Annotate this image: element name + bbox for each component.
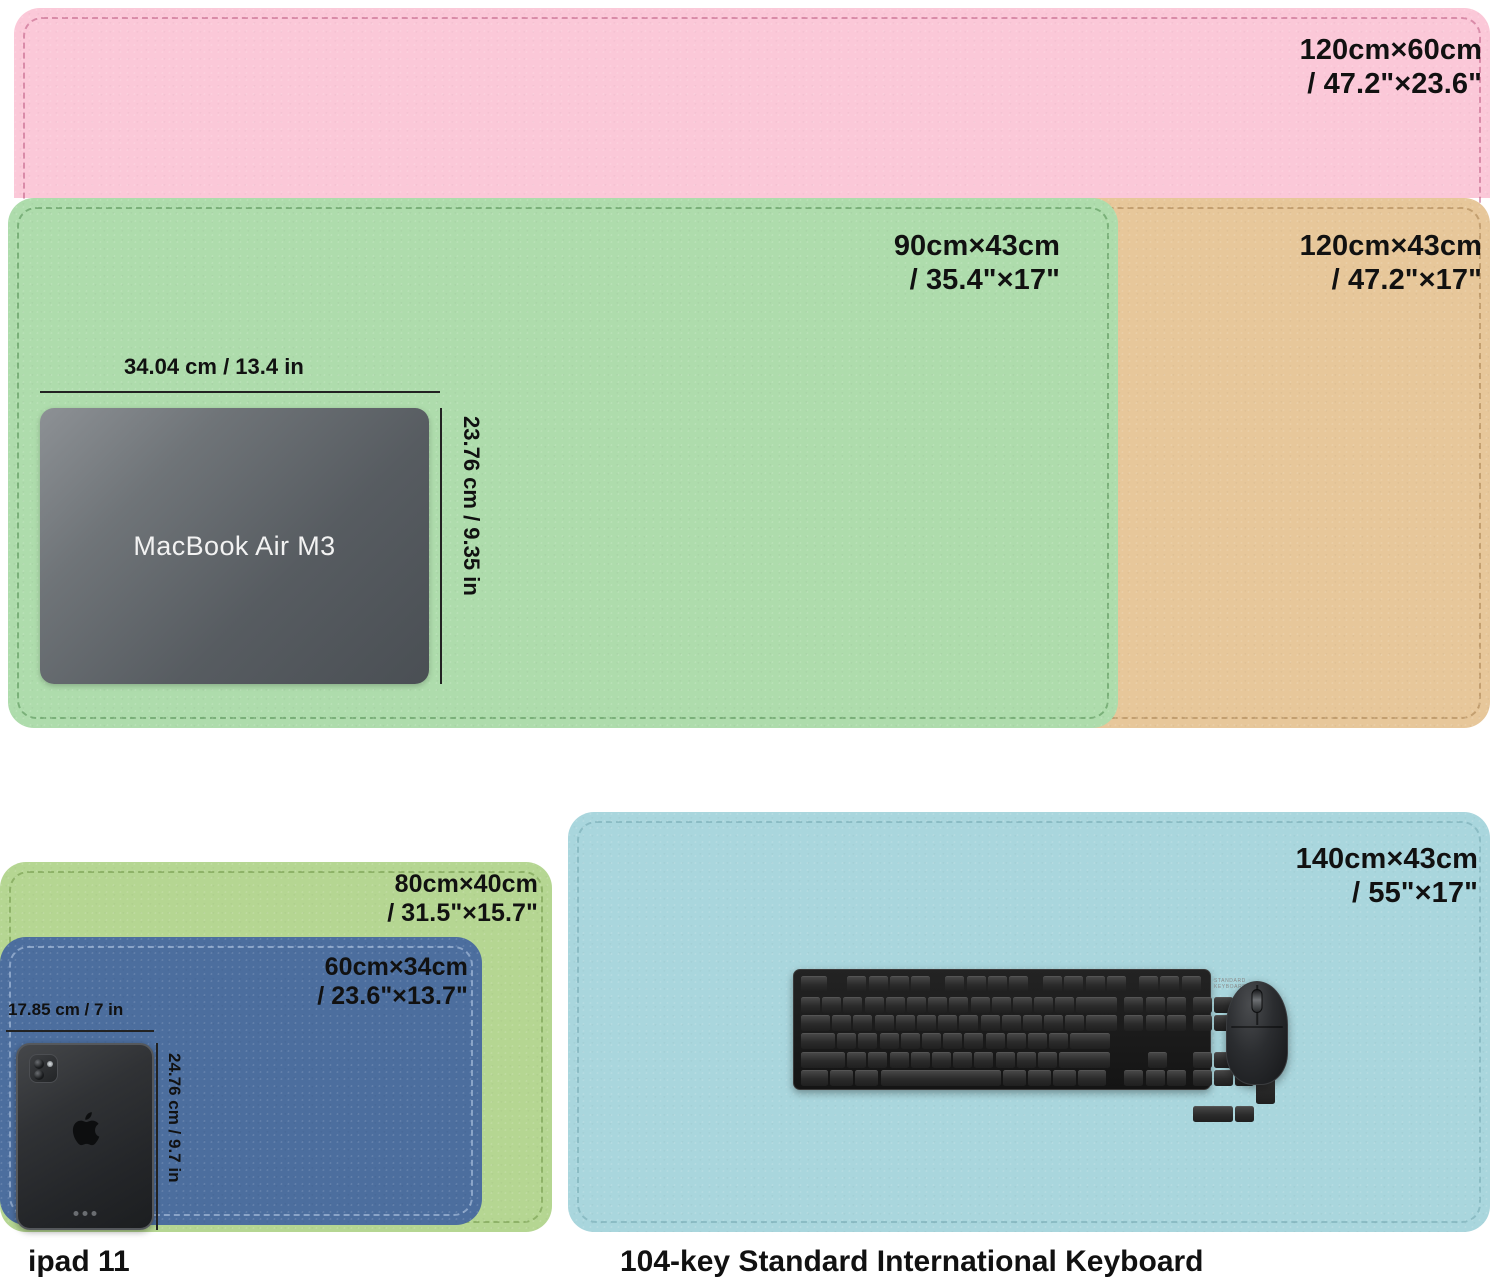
key-ctrl-left — [801, 1070, 828, 1086]
ipad-camera-module — [29, 1054, 58, 1083]
key-backtick — [801, 997, 820, 1013]
key-l — [1007, 1033, 1026, 1049]
key-home — [1146, 997, 1165, 1013]
key-b — [932, 1052, 951, 1068]
key-page-up — [1167, 997, 1186, 1013]
keyboard-main-block — [801, 997, 1117, 1122]
key-numpad-1 — [1193, 1070, 1212, 1086]
key-f11 — [1086, 976, 1105, 992]
device-keyboard-104-key: STANDARD KEYBOARD — [793, 969, 1211, 1090]
macbook-label: MacBook Air M3 — [133, 531, 335, 562]
camera-lens-icon — [34, 1059, 44, 1069]
key-numpad-2 — [1214, 1070, 1233, 1086]
key-arrow-up — [1148, 1052, 1167, 1068]
key-i — [981, 1015, 1000, 1031]
key-8 — [971, 997, 990, 1013]
key-backspace — [1076, 997, 1117, 1013]
key-a — [837, 1033, 856, 1049]
key-u — [959, 1015, 978, 1031]
key-win-right — [1028, 1070, 1051, 1086]
key-alt-right — [1003, 1070, 1026, 1086]
key-y — [938, 1015, 957, 1031]
apple-logo-icon — [68, 1109, 102, 1149]
ipad-height-rule — [156, 1043, 158, 1230]
key-x — [868, 1052, 887, 1068]
key-menu — [1053, 1070, 1076, 1086]
key-enter — [1070, 1033, 1110, 1049]
key-arrow-right — [1167, 1070, 1186, 1086]
key-f1 — [847, 976, 866, 992]
key-bracket-right — [1065, 1015, 1084, 1031]
key-quote — [1049, 1033, 1068, 1049]
key-shift-right — [1059, 1052, 1110, 1068]
key-arrow-down — [1146, 1070, 1165, 1086]
key-ctrl-right — [1078, 1070, 1106, 1086]
key-p — [1023, 1015, 1042, 1031]
camera-lens-icon — [34, 1070, 44, 1080]
key-numpad-0 — [1193, 1106, 1233, 1122]
key-f3 — [890, 976, 909, 992]
key-f5 — [945, 976, 964, 992]
key-tab — [801, 1015, 830, 1031]
device-mouse — [1226, 981, 1288, 1085]
key-pause — [1182, 976, 1201, 992]
key-h — [943, 1033, 962, 1049]
key-shift-left — [801, 1052, 845, 1068]
camera-flash-icon — [47, 1061, 53, 1067]
key-n — [953, 1052, 972, 1068]
keyboard-nav-cluster — [1124, 997, 1185, 1122]
key-r — [896, 1015, 915, 1031]
key-insert — [1124, 997, 1143, 1013]
key-g — [922, 1033, 941, 1049]
key-esc — [801, 976, 827, 992]
key-backslash — [1086, 1015, 1117, 1031]
key-m — [974, 1052, 993, 1068]
key-equals — [1055, 997, 1074, 1013]
key-5 — [907, 997, 926, 1013]
macbook-height-label: 23.76 cm / 9.35 in — [458, 416, 484, 596]
key-v — [911, 1052, 930, 1068]
key-z — [847, 1052, 866, 1068]
key-w — [853, 1015, 872, 1031]
key-scroll-lock — [1160, 976, 1179, 992]
key-end — [1146, 1015, 1165, 1031]
key-arrow-left — [1124, 1070, 1143, 1086]
label-tan-mat-size: 120cm×43cm / 47.2"×17" — [1062, 230, 1482, 297]
key-f10 — [1064, 976, 1083, 992]
key-minus — [1034, 997, 1053, 1013]
key-semicolon — [1028, 1033, 1047, 1049]
key-numpad-7 — [1193, 1015, 1212, 1031]
key-j — [964, 1033, 983, 1049]
key-d — [880, 1033, 899, 1049]
key-1 — [822, 997, 841, 1013]
key-period — [1017, 1052, 1036, 1068]
label-olive-mat-size: 80cm×40cm / 31.5"×15.7" — [250, 870, 538, 928]
key-4 — [886, 997, 905, 1013]
key-0 — [1013, 997, 1032, 1013]
key-win-left — [830, 1070, 853, 1086]
macbook-height-rule — [440, 408, 442, 684]
ipad-width-label: 17.85 cm / 7 in — [8, 1000, 123, 1020]
key-o — [1002, 1015, 1021, 1031]
caption-ipad: ipad 11 — [28, 1245, 130, 1279]
key-7 — [949, 997, 968, 1013]
key-f4 — [911, 976, 930, 992]
macbook-width-rule — [40, 391, 440, 393]
key-space — [881, 1070, 1001, 1086]
key-e — [875, 1015, 894, 1031]
device-ipad-11 — [16, 1043, 154, 1230]
key-q — [832, 1015, 851, 1031]
key-6 — [928, 997, 947, 1013]
smart-connector-icon — [74, 1211, 97, 1216]
mouse-scroll-wheel-icon — [1252, 989, 1263, 1013]
size-comparison-infographic: 120cm×60cm / 47.2"×23.6" 120cm×43cm / 47… — [0, 0, 1500, 1285]
label-pink-mat-size: 120cm×60cm / 47.2"×23.6" — [1062, 34, 1482, 101]
key-comma — [996, 1052, 1015, 1068]
key-page-down — [1167, 1015, 1186, 1031]
key-2 — [843, 997, 862, 1013]
label-green-mat-size: 90cm×43cm / 35.4"×17" — [700, 230, 1060, 297]
key-f6 — [967, 976, 986, 992]
key-f2 — [869, 976, 888, 992]
key-9 — [992, 997, 1011, 1013]
mouse-seam — [1231, 1026, 1284, 1028]
key-print-screen — [1139, 976, 1158, 992]
label-teal-mat-size: 140cm×43cm / 55"×17" — [1058, 843, 1478, 910]
key-bracket-left — [1044, 1015, 1063, 1031]
macbook-width-label: 34.04 cm / 13.4 in — [124, 354, 304, 380]
key-numpad-decimal — [1235, 1106, 1254, 1122]
device-macbook-air-m3: MacBook Air M3 — [40, 408, 429, 684]
ipad-width-rule — [6, 1030, 154, 1032]
key-alt-left — [855, 1070, 878, 1086]
key-f12 — [1107, 976, 1126, 992]
key-delete — [1124, 1015, 1143, 1031]
key-f — [901, 1033, 920, 1049]
key-num-lock — [1193, 997, 1212, 1013]
label-blue-mat-size: 60cm×34cm / 23.6"×13.7" — [190, 953, 468, 1011]
key-t — [917, 1015, 936, 1031]
key-k — [986, 1033, 1005, 1049]
ipad-height-label: 24.76 cm / 9.7 in — [164, 1053, 184, 1182]
key-caps-lock — [801, 1033, 835, 1049]
key-c — [890, 1052, 909, 1068]
key-numpad-4 — [1193, 1052, 1212, 1068]
key-s — [858, 1033, 877, 1049]
key-f9 — [1043, 976, 1062, 992]
key-slash — [1038, 1052, 1057, 1068]
key-f7 — [988, 976, 1007, 992]
caption-keyboard: 104-key Standard International Keyboard — [620, 1245, 1204, 1279]
key-f8 — [1009, 976, 1028, 992]
key-3 — [865, 997, 884, 1013]
